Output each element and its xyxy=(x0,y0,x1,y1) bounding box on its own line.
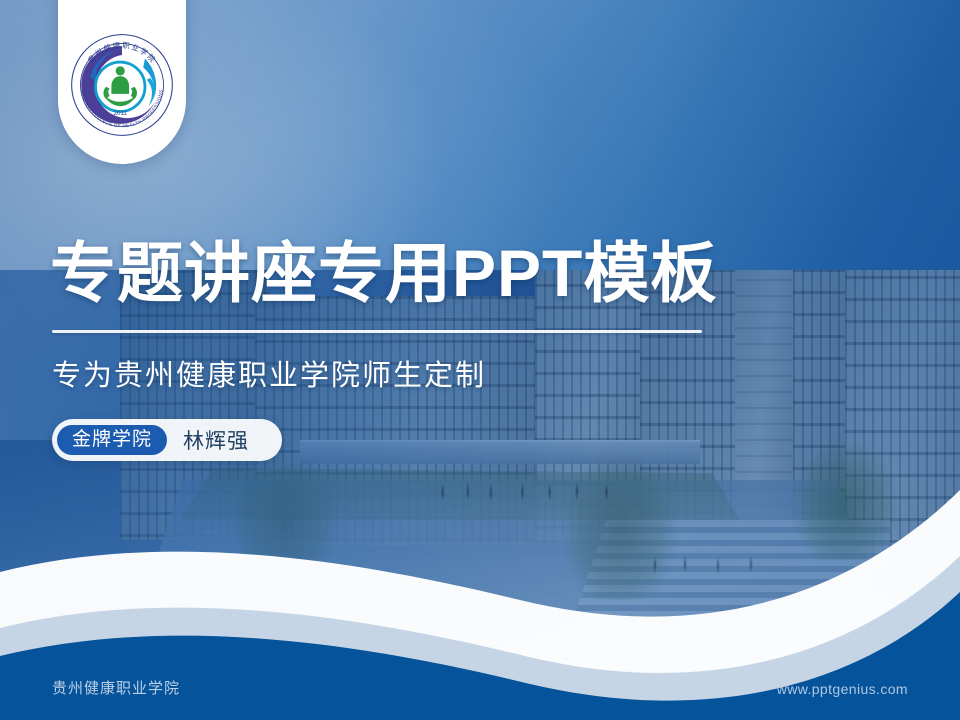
presenter-pill: 金牌学院 林辉强 xyxy=(52,419,282,461)
slide-title: 专题讲座专用PPT模板 xyxy=(50,240,717,306)
svg-text:2011: 2011 xyxy=(114,110,128,117)
footer-website: www.pptgenius.com xyxy=(777,681,908,697)
title-divider xyxy=(52,330,702,333)
slide-subtitle: 专为贵州健康职业学院师生定制 xyxy=(52,352,486,394)
presenter-name: 林辉强 xyxy=(167,425,267,455)
college-logo-badge: 2011 贵州健康职业学院 GUIZHOU COLLEGE OF HEALTH … xyxy=(58,0,186,164)
guizhou-health-college-emblem-icon: 2011 贵州健康职业学院 GUIZHOU COLLEGE OF HEALTH … xyxy=(69,32,175,138)
footer-college-name: 贵州健康职业学院 xyxy=(52,677,180,698)
gold-college-badge: 金牌学院 xyxy=(57,425,167,455)
presentation-title-slide: 2011 贵州健康职业学院 GUIZHOU COLLEGE OF HEALTH … xyxy=(0,0,960,720)
